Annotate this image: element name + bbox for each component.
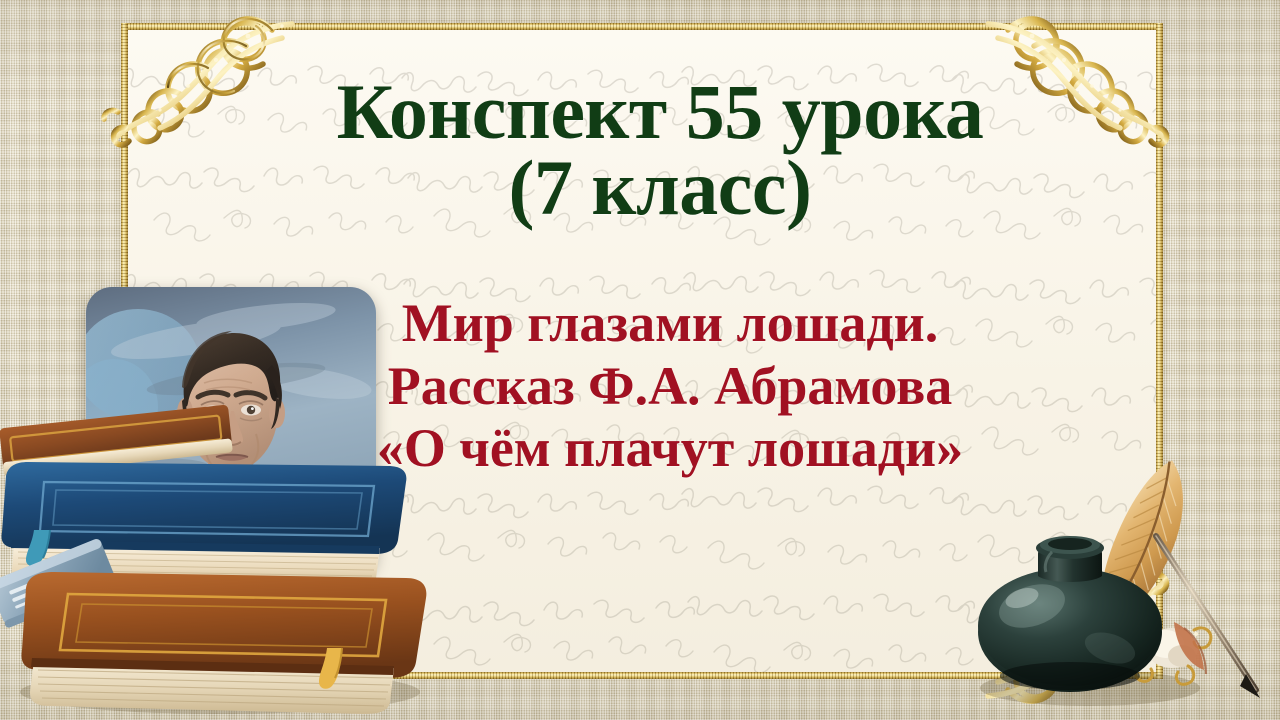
slide-title: Конспект 55 урока (7 класс) bbox=[210, 74, 1110, 227]
book-stack bbox=[0, 380, 460, 720]
inkwell-and-quill bbox=[960, 440, 1270, 715]
title-text-grade: (7 класс) bbox=[210, 150, 1110, 226]
slide-canvas: Конспект 55 урока (7 класс) Мир глазами … bbox=[0, 0, 1280, 720]
title-line-1: Конспект 55 урока (7 класс) bbox=[210, 74, 1110, 227]
title-text-main: Конспект 55 урока bbox=[337, 68, 984, 155]
